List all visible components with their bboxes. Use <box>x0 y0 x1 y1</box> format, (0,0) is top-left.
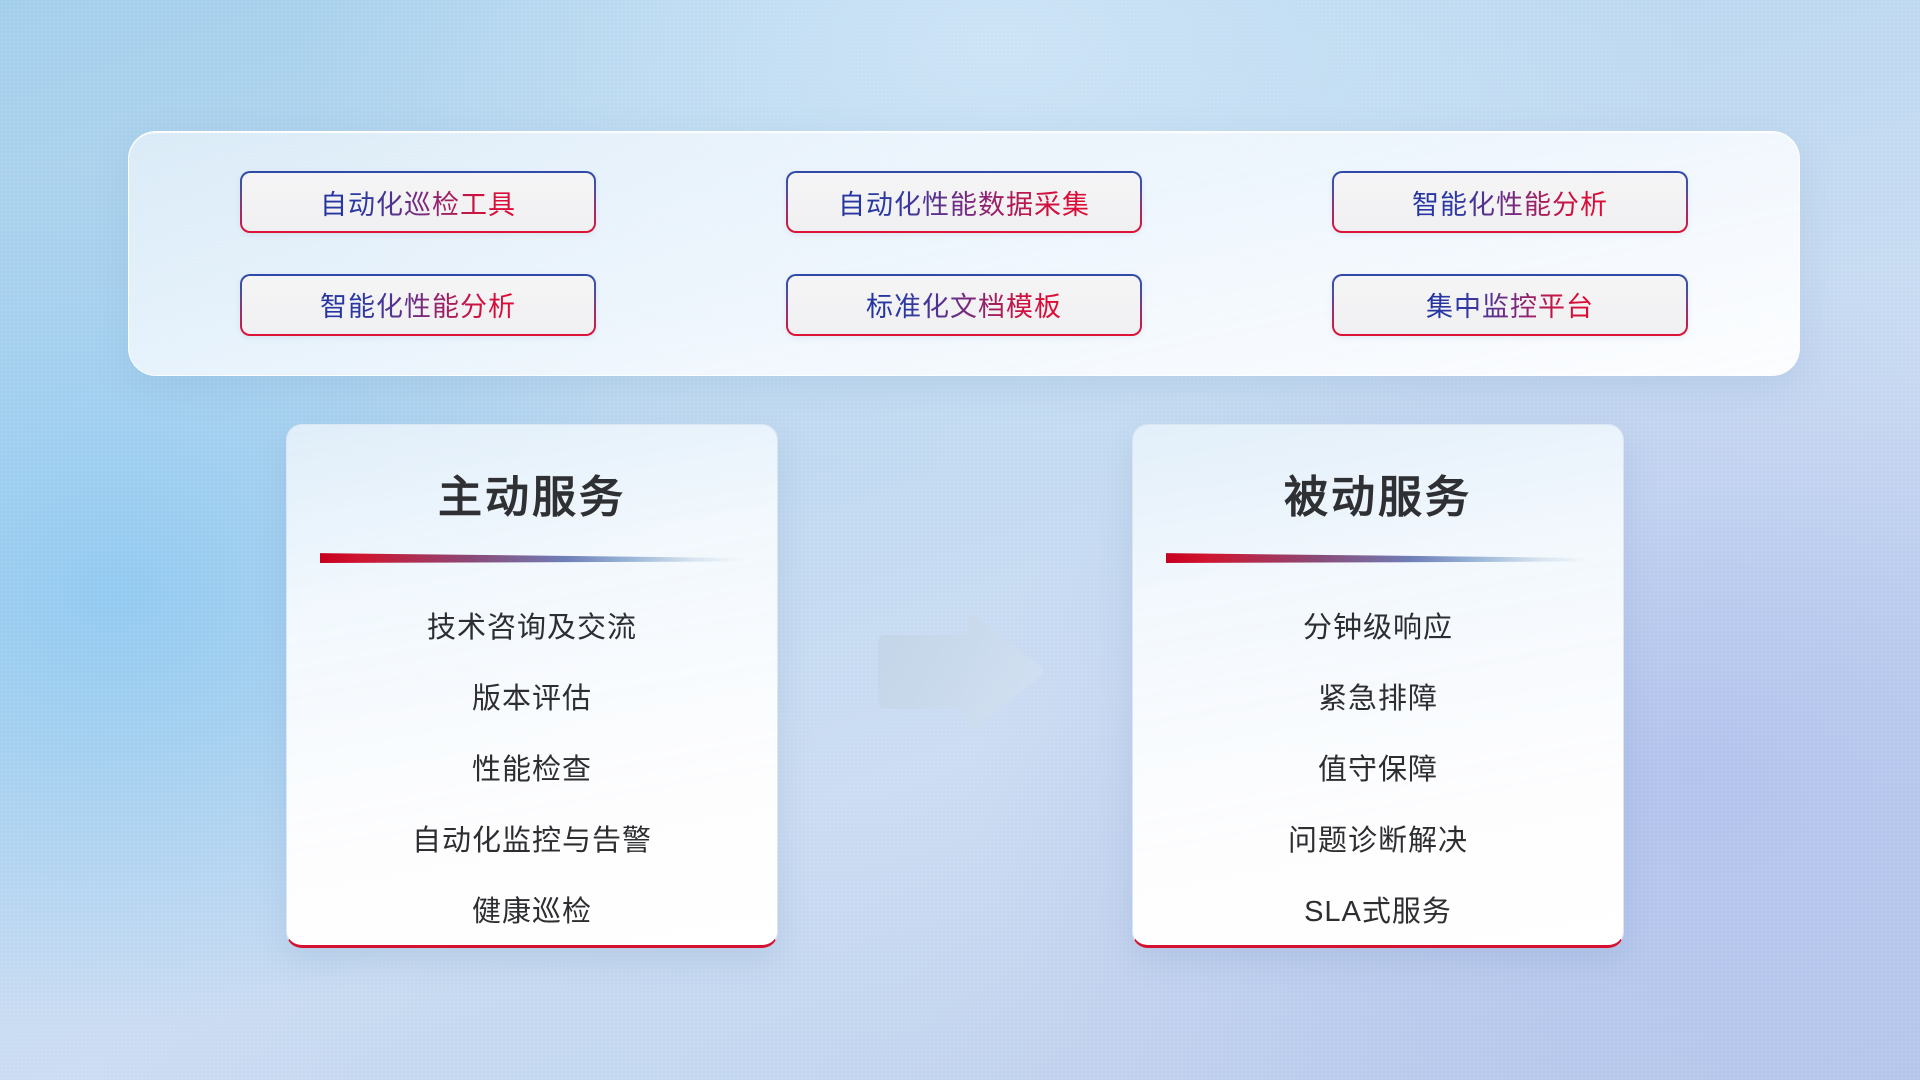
slide-canvas: 自动化巡检工具 自动化性能数据采集 智能化性能分析 智能化性能分析 标准化文档模… <box>0 0 1920 1080</box>
capability-chip-intelligent-performance-analysis-bottom[interactable]: 智能化性能分析 <box>240 274 596 336</box>
active-service-title: 主动服务 <box>287 461 777 525</box>
capability-chip-label: 智能化性能分析 <box>1412 183 1608 222</box>
active-service-list: 技术咨询及交流 版本评估 性能检查 自动化监控与告警 健康巡检 <box>287 593 777 948</box>
list-item: 问题诊断解决 <box>1133 806 1623 877</box>
list-item: 自动化监控与告警 <box>287 806 777 877</box>
flow-arrow-right-icon: 由主动服务流向被动服务 <box>872 613 1044 731</box>
capability-chip-label: 标准化文档模板 <box>866 285 1062 324</box>
flow-arrow-label: 由主动服务流向被动服务 <box>1044 613 1045 614</box>
capability-chip-label: 自动化巡检工具 <box>320 183 516 222</box>
list-item: 值守保障 <box>1133 735 1623 806</box>
passive-service-card: 被动服务 分钟级响应 紧急排障 值守保障 问题诊断解决 SLA式服务 <box>1132 424 1624 948</box>
list-item: 健康巡检 <box>287 877 777 948</box>
list-item: 版本评估 <box>287 664 777 735</box>
list-item: 技术咨询及交流 <box>287 593 777 664</box>
divider-wedge-shape <box>320 551 744 563</box>
capability-chip-automated-inspection-tool[interactable]: 自动化巡检工具 <box>240 171 596 233</box>
active-service-divider <box>320 551 744 563</box>
passive-service-title: 被动服务 <box>1133 461 1623 525</box>
capability-chip-intelligent-performance-analysis-top[interactable]: 智能化性能分析 <box>1332 171 1688 233</box>
capability-chip-standardized-document-template[interactable]: 标准化文档模板 <box>786 274 1142 336</box>
capability-chip-label: 自动化性能数据采集 <box>838 183 1090 222</box>
capability-panel: 自动化巡检工具 自动化性能数据采集 智能化性能分析 智能化性能分析 标准化文档模… <box>128 131 1800 376</box>
capability-chip-label: 集中监控平台 <box>1426 285 1594 324</box>
passive-service-list: 分钟级响应 紧急排障 值守保障 问题诊断解决 SLA式服务 <box>1133 593 1623 948</box>
divider-wedge-shape <box>1166 551 1590 563</box>
list-item: 性能检查 <box>287 735 777 806</box>
passive-service-divider <box>1166 551 1590 563</box>
list-item: 分钟级响应 <box>1133 593 1623 664</box>
list-item: 紧急排障 <box>1133 664 1623 735</box>
list-item: SLA式服务 <box>1133 877 1623 948</box>
capability-chip-centralized-monitoring-platform[interactable]: 集中监控平台 <box>1332 274 1688 336</box>
capability-chip-automated-performance-data-collection[interactable]: 自动化性能数据采集 <box>786 171 1142 233</box>
active-service-card: 主动服务 技术咨询及交流 版本评估 性能检查 自动化监控与告警 健康巡检 <box>286 424 778 948</box>
capability-chip-label: 智能化性能分析 <box>320 285 516 324</box>
